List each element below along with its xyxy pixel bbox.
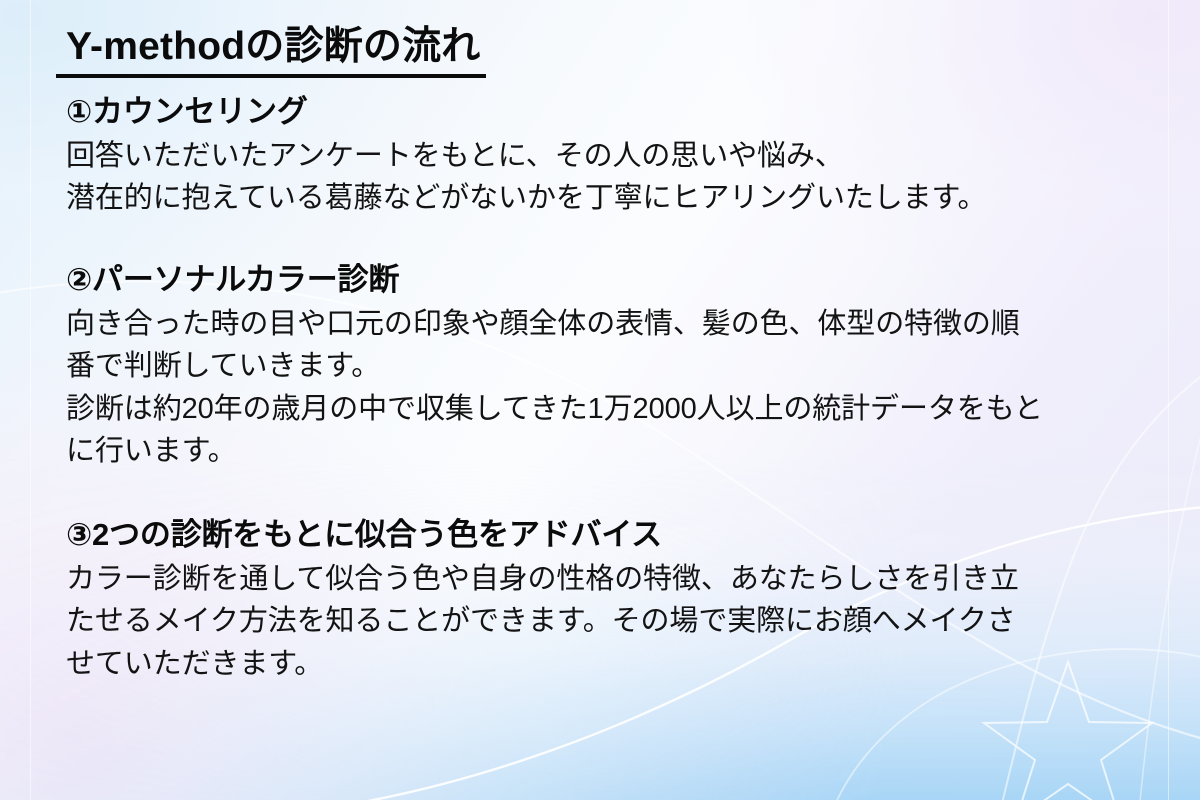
section-gap-2 — [66, 473, 1156, 515]
section-1-line-2: 潜在的に抱えている葛藤などがないかを丁寧にヒアリングいたします。 — [66, 177, 1156, 220]
page-title: Y-methodの診断の流れ — [56, 24, 486, 78]
section-2-body: 向き合った時の目や口元の印象や顔全体の表情、髪の色、体型の特徴の順 番で判断して… — [66, 303, 1156, 474]
section-1-line-1: 回答いただいたアンケートをもとに、その人の思いや悩み、 — [66, 135, 1156, 178]
section-1-body: 回答いただいたアンケートをもとに、その人の思いや悩み、 潜在的に抱えている葛藤な… — [66, 135, 1156, 220]
slide-canvas: Y-methodの診断の流れ ①カウンセリング 回答いただいたアンケートをもとに… — [0, 0, 1200, 800]
section-3-body: カラー診断を通して似合う色や自身の性格の特徴、あなたらしさを引き立 たせるメイク… — [66, 558, 1156, 686]
section-3-line-2: たせるメイク方法を知ることができます。その場で実際にお顔へメイクさ — [66, 600, 1156, 643]
section-2-line-1: 向き合った時の目や口元の印象や顔全体の表情、髪の色、体型の特徴の順 — [66, 303, 1156, 346]
background-seam-right — [1168, 0, 1169, 800]
section-2-line-4: に行います。 — [66, 430, 1156, 473]
section-color-advice: ③2つの診断をもとに似合う色をアドバイス カラー診断を通して似合う色や自身の性格… — [66, 515, 1156, 686]
background-seam-left — [30, 0, 31, 800]
section-2-heading: ②パーソナルカラー診断 — [66, 260, 1156, 300]
section-gap-1 — [66, 220, 1156, 260]
section-personal-color-diagnosis: ②パーソナルカラー診断 向き合った時の目や口元の印象や顔全体の表情、髪の色、体型… — [66, 260, 1156, 473]
section-3-heading: ③2つの診断をもとに似合う色をアドバイス — [66, 515, 1156, 555]
section-2-line-3: 診断は約20年の歳月の中で収集してきた1万2000人以上の統計データをもと — [66, 388, 1156, 431]
section-1-heading: ①カウンセリング — [66, 92, 1156, 132]
section-3-line-1: カラー診断を通して似合う色や自身の性格の特徴、あなたらしさを引き立 — [66, 558, 1156, 601]
section-2-line-2: 番で判断していきます。 — [66, 345, 1156, 388]
slide-content: Y-methodの診断の流れ ①カウンセリング 回答いただいたアンケートをもとに… — [66, 24, 1156, 686]
section-3-line-3: せていただきます。 — [66, 643, 1156, 686]
section-counseling: ①カウンセリング 回答いただいたアンケートをもとに、その人の思いや悩み、 潜在的… — [66, 92, 1156, 220]
